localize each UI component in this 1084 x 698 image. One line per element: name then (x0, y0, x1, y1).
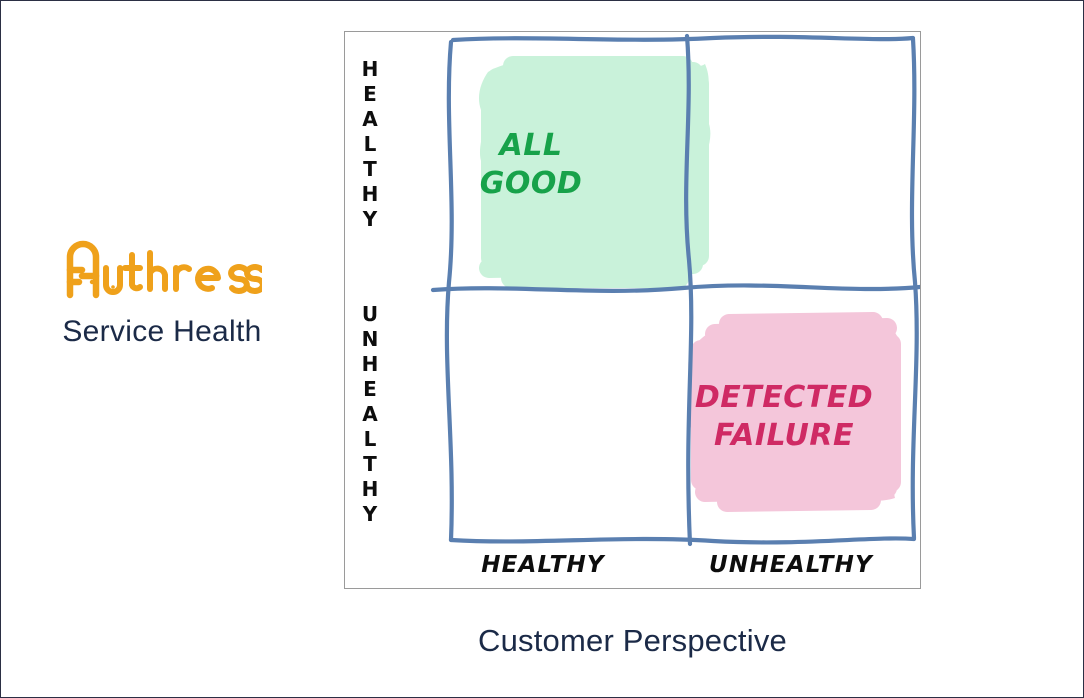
quadrant-drawing (393, 32, 920, 552)
y-axis-letter: U (353, 302, 387, 327)
quadrant-label-all-good: ALL GOOD (431, 127, 631, 203)
quadrant-label-line: ALL (431, 127, 631, 165)
y-axis-letter: T (353, 157, 387, 182)
y-axis-letter: H (353, 477, 387, 502)
y-axis-letter: T (353, 452, 387, 477)
quadrant-label-line: GOOD (431, 165, 631, 203)
chart-caption: Customer Perspective (344, 623, 921, 659)
y-axis-letter: E (353, 377, 387, 402)
slide-canvas: Service Health H E A L T H Y U N H E A L… (0, 0, 1084, 698)
y-axis-letter: L (353, 132, 387, 157)
y-axis-letter: H (353, 182, 387, 207)
brand-subtitle: Service Health (1, 315, 323, 349)
authress-logo (1, 237, 323, 299)
quadrant-label-line: FAILURE (659, 417, 909, 455)
y-axis-letter: H (353, 352, 387, 377)
y-axis-label-unhealthy: U N H E A L T H Y (353, 302, 387, 527)
y-axis-label-healthy: H E A L T H Y (353, 57, 387, 232)
y-axis-letter: A (353, 107, 387, 132)
y-axis-letter: N (353, 327, 387, 352)
y-axis-letter: H (353, 57, 387, 82)
x-axis-label-unhealthy: UNHEALTHY (665, 552, 917, 578)
quadrant-label-line: DETECTED (659, 379, 909, 417)
logo-dot (111, 285, 115, 289)
y-axis-letter: E (353, 82, 387, 107)
y-axis-letter: A (353, 402, 387, 427)
branding-block: Service Health (1, 237, 323, 349)
authress-key-logo-icon (62, 237, 262, 299)
y-axis-letter: L (353, 427, 387, 452)
logo-dot (90, 280, 94, 284)
x-axis-label-healthy: HEALTHY (413, 552, 673, 578)
y-axis-letter: Y (353, 502, 387, 527)
y-axis-letter: Y (353, 207, 387, 232)
quadrant-matrix: H E A L T H Y U N H E A L T H Y (344, 31, 921, 589)
quadrant-label-detected-failure: DETECTED FAILURE (659, 379, 909, 455)
